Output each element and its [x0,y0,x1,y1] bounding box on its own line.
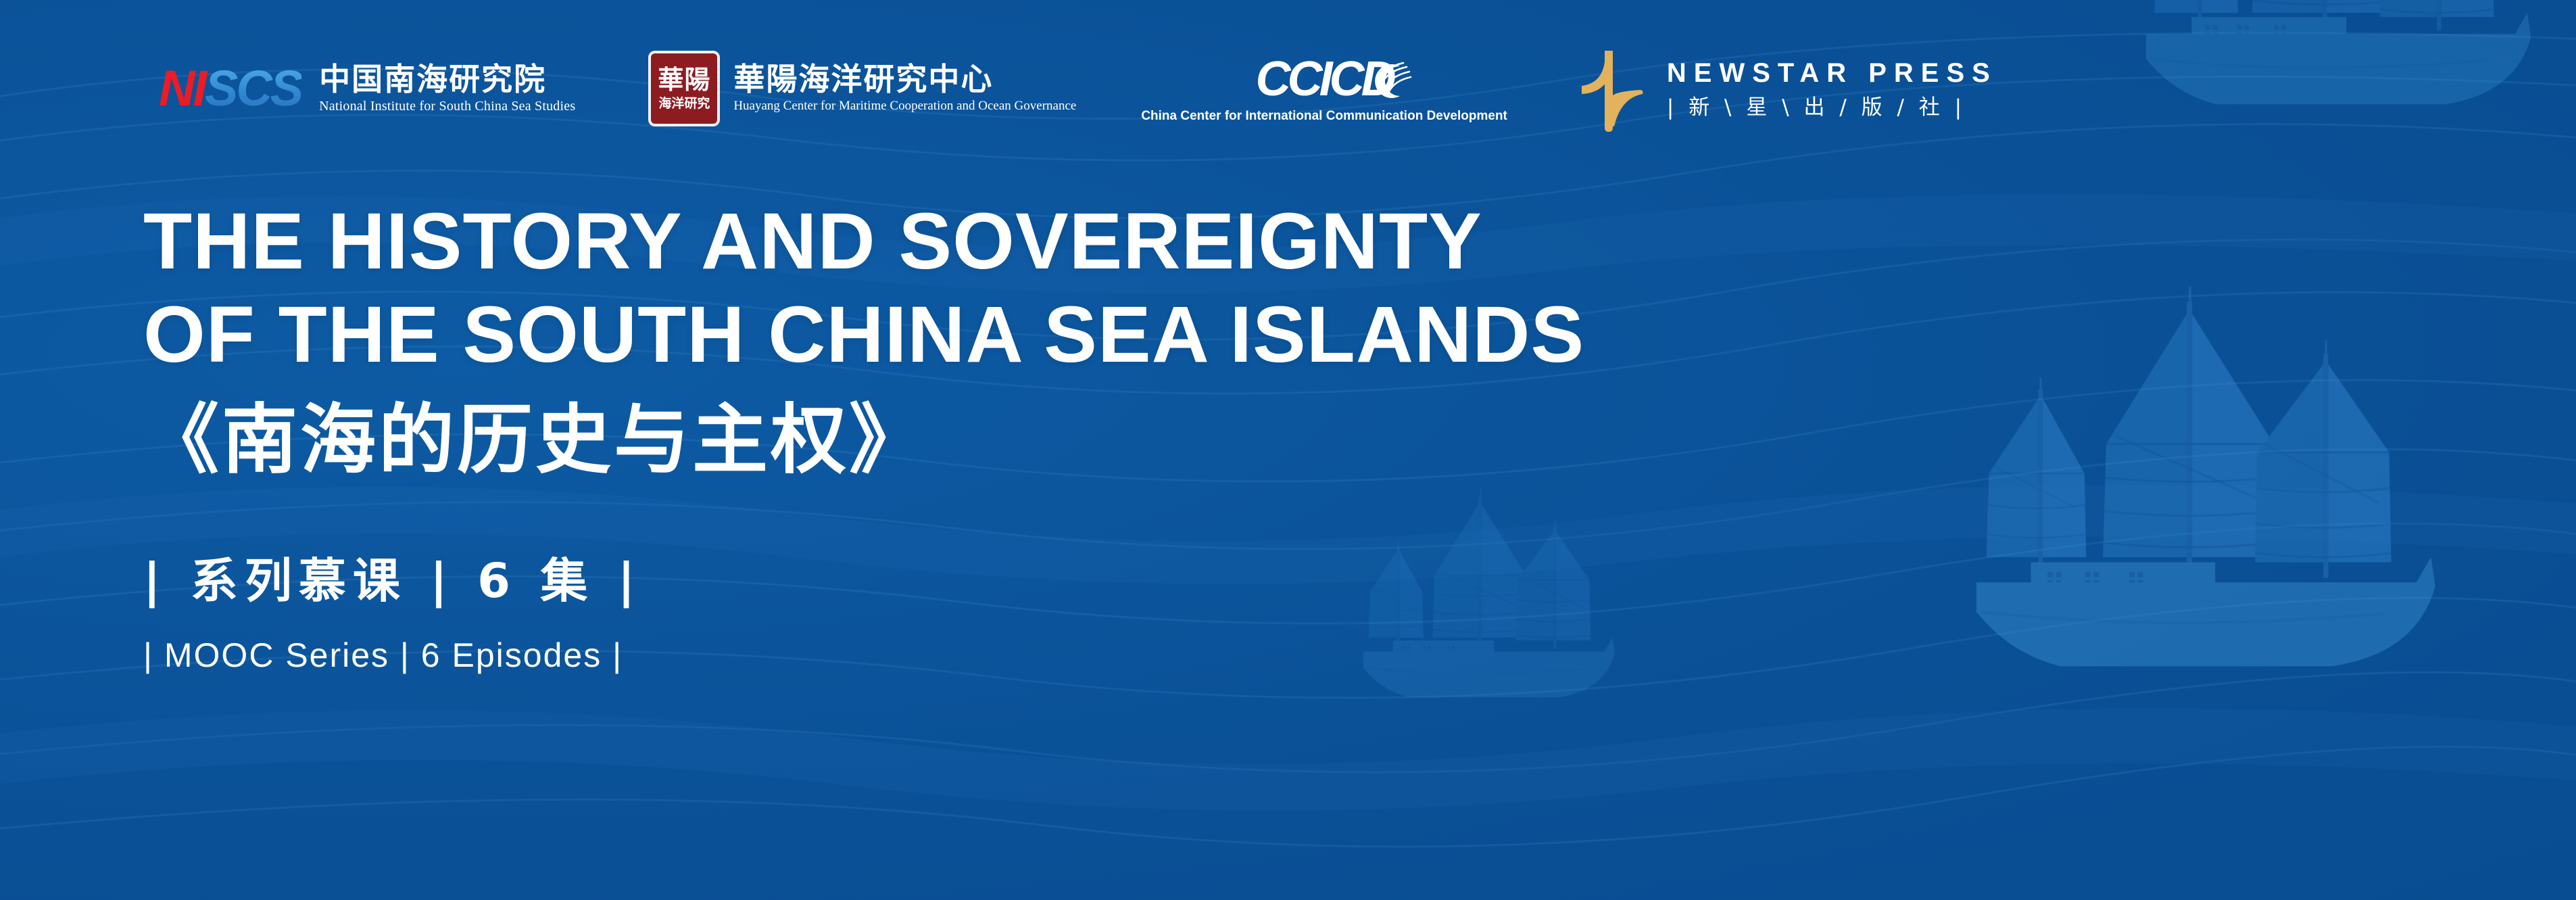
title-chinese: 《南海的历史与主权》 [143,395,2036,485]
logo-niscs: NISCS 中国南海研究院 National Institute for Sou… [159,63,575,114]
subtitle-english: | MOOC Series | 6 Episodes | [143,638,2036,672]
ccicd-wordmark: CCICD [1256,53,1393,105]
niscs-name-cn: 中国南海研究院 [319,63,575,95]
banner-content: THE HISTORY AND SOVEREIGNTY OF THE SOUTH… [143,195,2036,672]
niscs-mark-blue: SCS [205,60,301,116]
niscs-wordmark: NISCS [159,64,301,114]
subtitle-chinese: | 系列慕课 | 6 集 | [143,557,2036,605]
niscs-name-block: 中国南海研究院 National Institute for South Chi… [319,63,575,114]
logo-newstar-press: NEWSTAR PRESS | 新 \ 星 \ 出 / 版 / 社 | [1579,44,1997,133]
newstar-star-icon [1579,44,1644,133]
huayang-seal-top: 華陽 [658,67,710,93]
huayang-name-block: 華陽海洋研究中心 Huayang Center for Maritime Coo… [733,63,1076,114]
huayang-seal-icon: 華陽 海洋研究 [648,51,720,126]
huayang-seal-bottom: 海洋研究 [658,97,710,110]
niscs-name-en: National Institute for South China Sea S… [319,98,575,114]
partner-logo-row: NISCS 中国南海研究院 National Institute for Sou… [0,38,2576,139]
huayang-name-en: Huayang Center for Maritime Cooperation … [733,99,1076,114]
mooc-promo-banner: NISCS 中国南海研究院 National Institute for Sou… [0,0,2576,900]
niscs-mark-red: NI [159,60,205,116]
newstar-name-en: NEWSTAR PRESS [1667,60,1997,87]
newstar-name-block: NEWSTAR PRESS | 新 \ 星 \ 出 / 版 / 社 | [1667,60,1997,118]
title-line-2: OF THE SOUTH CHINA SEA ISLANDS [143,288,2036,381]
logo-huayang: 華陽 海洋研究 華陽海洋研究中心 Huayang Center for Mari… [648,51,1076,126]
huayang-name-cn: 華陽海洋研究中心 [733,63,1076,95]
title-line-1: THE HISTORY AND SOVEREIGNTY [143,195,2036,288]
newstar-name-cn: | 新 \ 星 \ 出 / 版 / 社 | [1667,97,1997,118]
ccicd-name-en: China Center for International Communica… [1141,109,1507,124]
logo-ccicd: CCICD China Center for International Com… [1141,53,1507,124]
globe-icon [1369,57,1414,101]
